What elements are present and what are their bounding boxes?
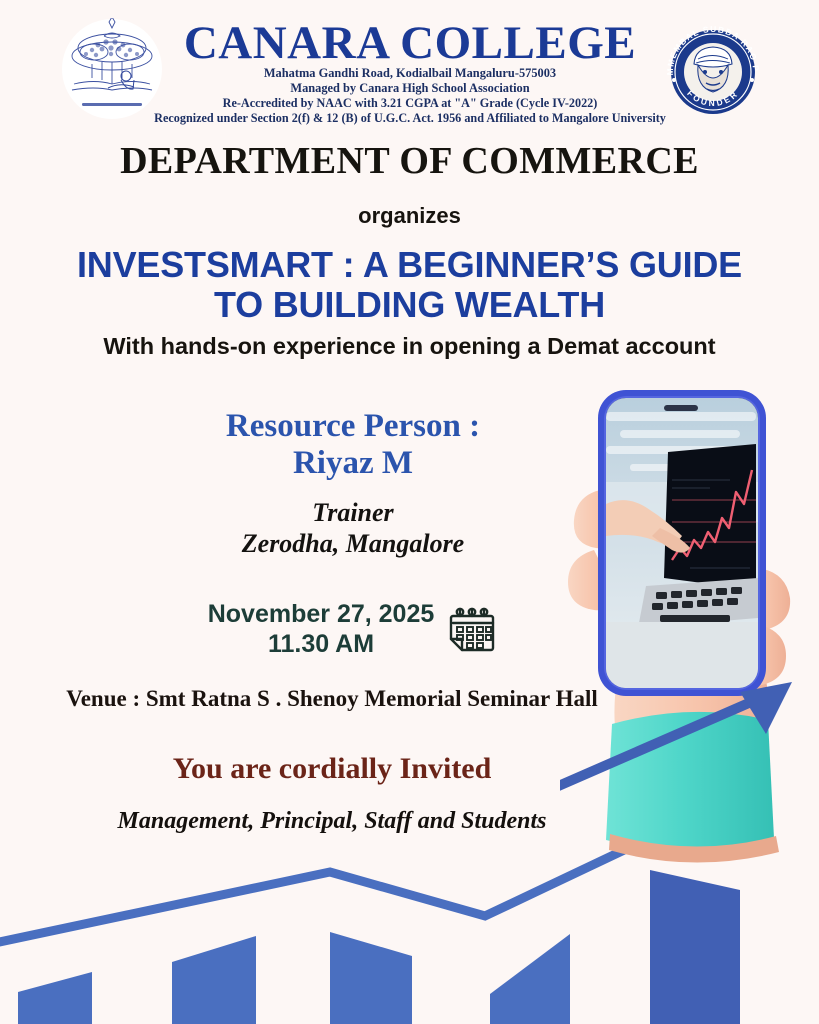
resource-person-label: Resource Person : (118, 408, 588, 445)
event-title-line-2: TO BUILDING WEALTH (0, 285, 819, 325)
organizes-label: organizes (0, 203, 819, 229)
event-venue: Venue : Smt Ratna S . Shenoy Memorial Se… (32, 686, 632, 712)
department-heading: DEPARTMENT OF COMMERCE (0, 139, 819, 183)
college-details: Mahatma Gandhi Road, Kodialbail Mangalur… (110, 66, 710, 126)
college-managed-by: Managed by Canara High School Associatio… (110, 81, 710, 96)
resource-person-name: Riyaz M (118, 445, 588, 482)
event-title-line-1: INVESTSMART : A BEGINNER’S GUIDE (0, 245, 819, 285)
event-subtitle: With hands-on experience in opening a De… (0, 333, 819, 360)
college-accreditation: Re-Accredited by NAAC with 3.21 CGPA at … (110, 96, 710, 111)
college-recognition: Recognized under Section 2(f) & 12 (B) o… (110, 111, 710, 126)
invitation-audience: Management, Principal, Staff and Student… (32, 808, 632, 835)
resource-person-block: Resource Person : Riyaz M Trainer Zerodh… (118, 408, 588, 559)
ascending-bar-chart-graphic (0, 824, 819, 1024)
college-name: CANARA COLLEGE (160, 20, 660, 68)
resource-person-role-block: Trainer Zerodha, Mangalore (118, 498, 588, 559)
event-date: November 27, 2025 (208, 600, 435, 630)
resource-person-organization: Zerodha, Mangalore (118, 529, 588, 560)
event-datetime: November 27, 2025 11.30 AM (208, 600, 435, 659)
ammembal-subba-rao-pai-founder-seal: AMMEMBAL SUBBA RAO PAI FOUNDER (657, 16, 769, 120)
event-datetime-row: November 27, 2025 11.30 AM (118, 600, 588, 659)
calendar-icon (446, 604, 498, 656)
invitation-headline: You are cordially Invited (32, 752, 632, 786)
resource-person-role: Trainer (118, 498, 588, 529)
hand-holding-phone-illustration (560, 372, 819, 972)
event-title: INVESTSMART : A BEGINNER’S GUIDE TO BUIL… (0, 245, 819, 326)
college-address: Mahatma Gandhi Road, Kodialbail Mangalur… (110, 66, 710, 81)
event-poster: CANARA COLLEGE Mahatma Gandhi Road, Kodi… (0, 0, 819, 1024)
event-time: 11.30 AM (208, 630, 435, 660)
poster-header: CANARA COLLEGE Mahatma Gandhi Road, Kodi… (0, 0, 819, 132)
